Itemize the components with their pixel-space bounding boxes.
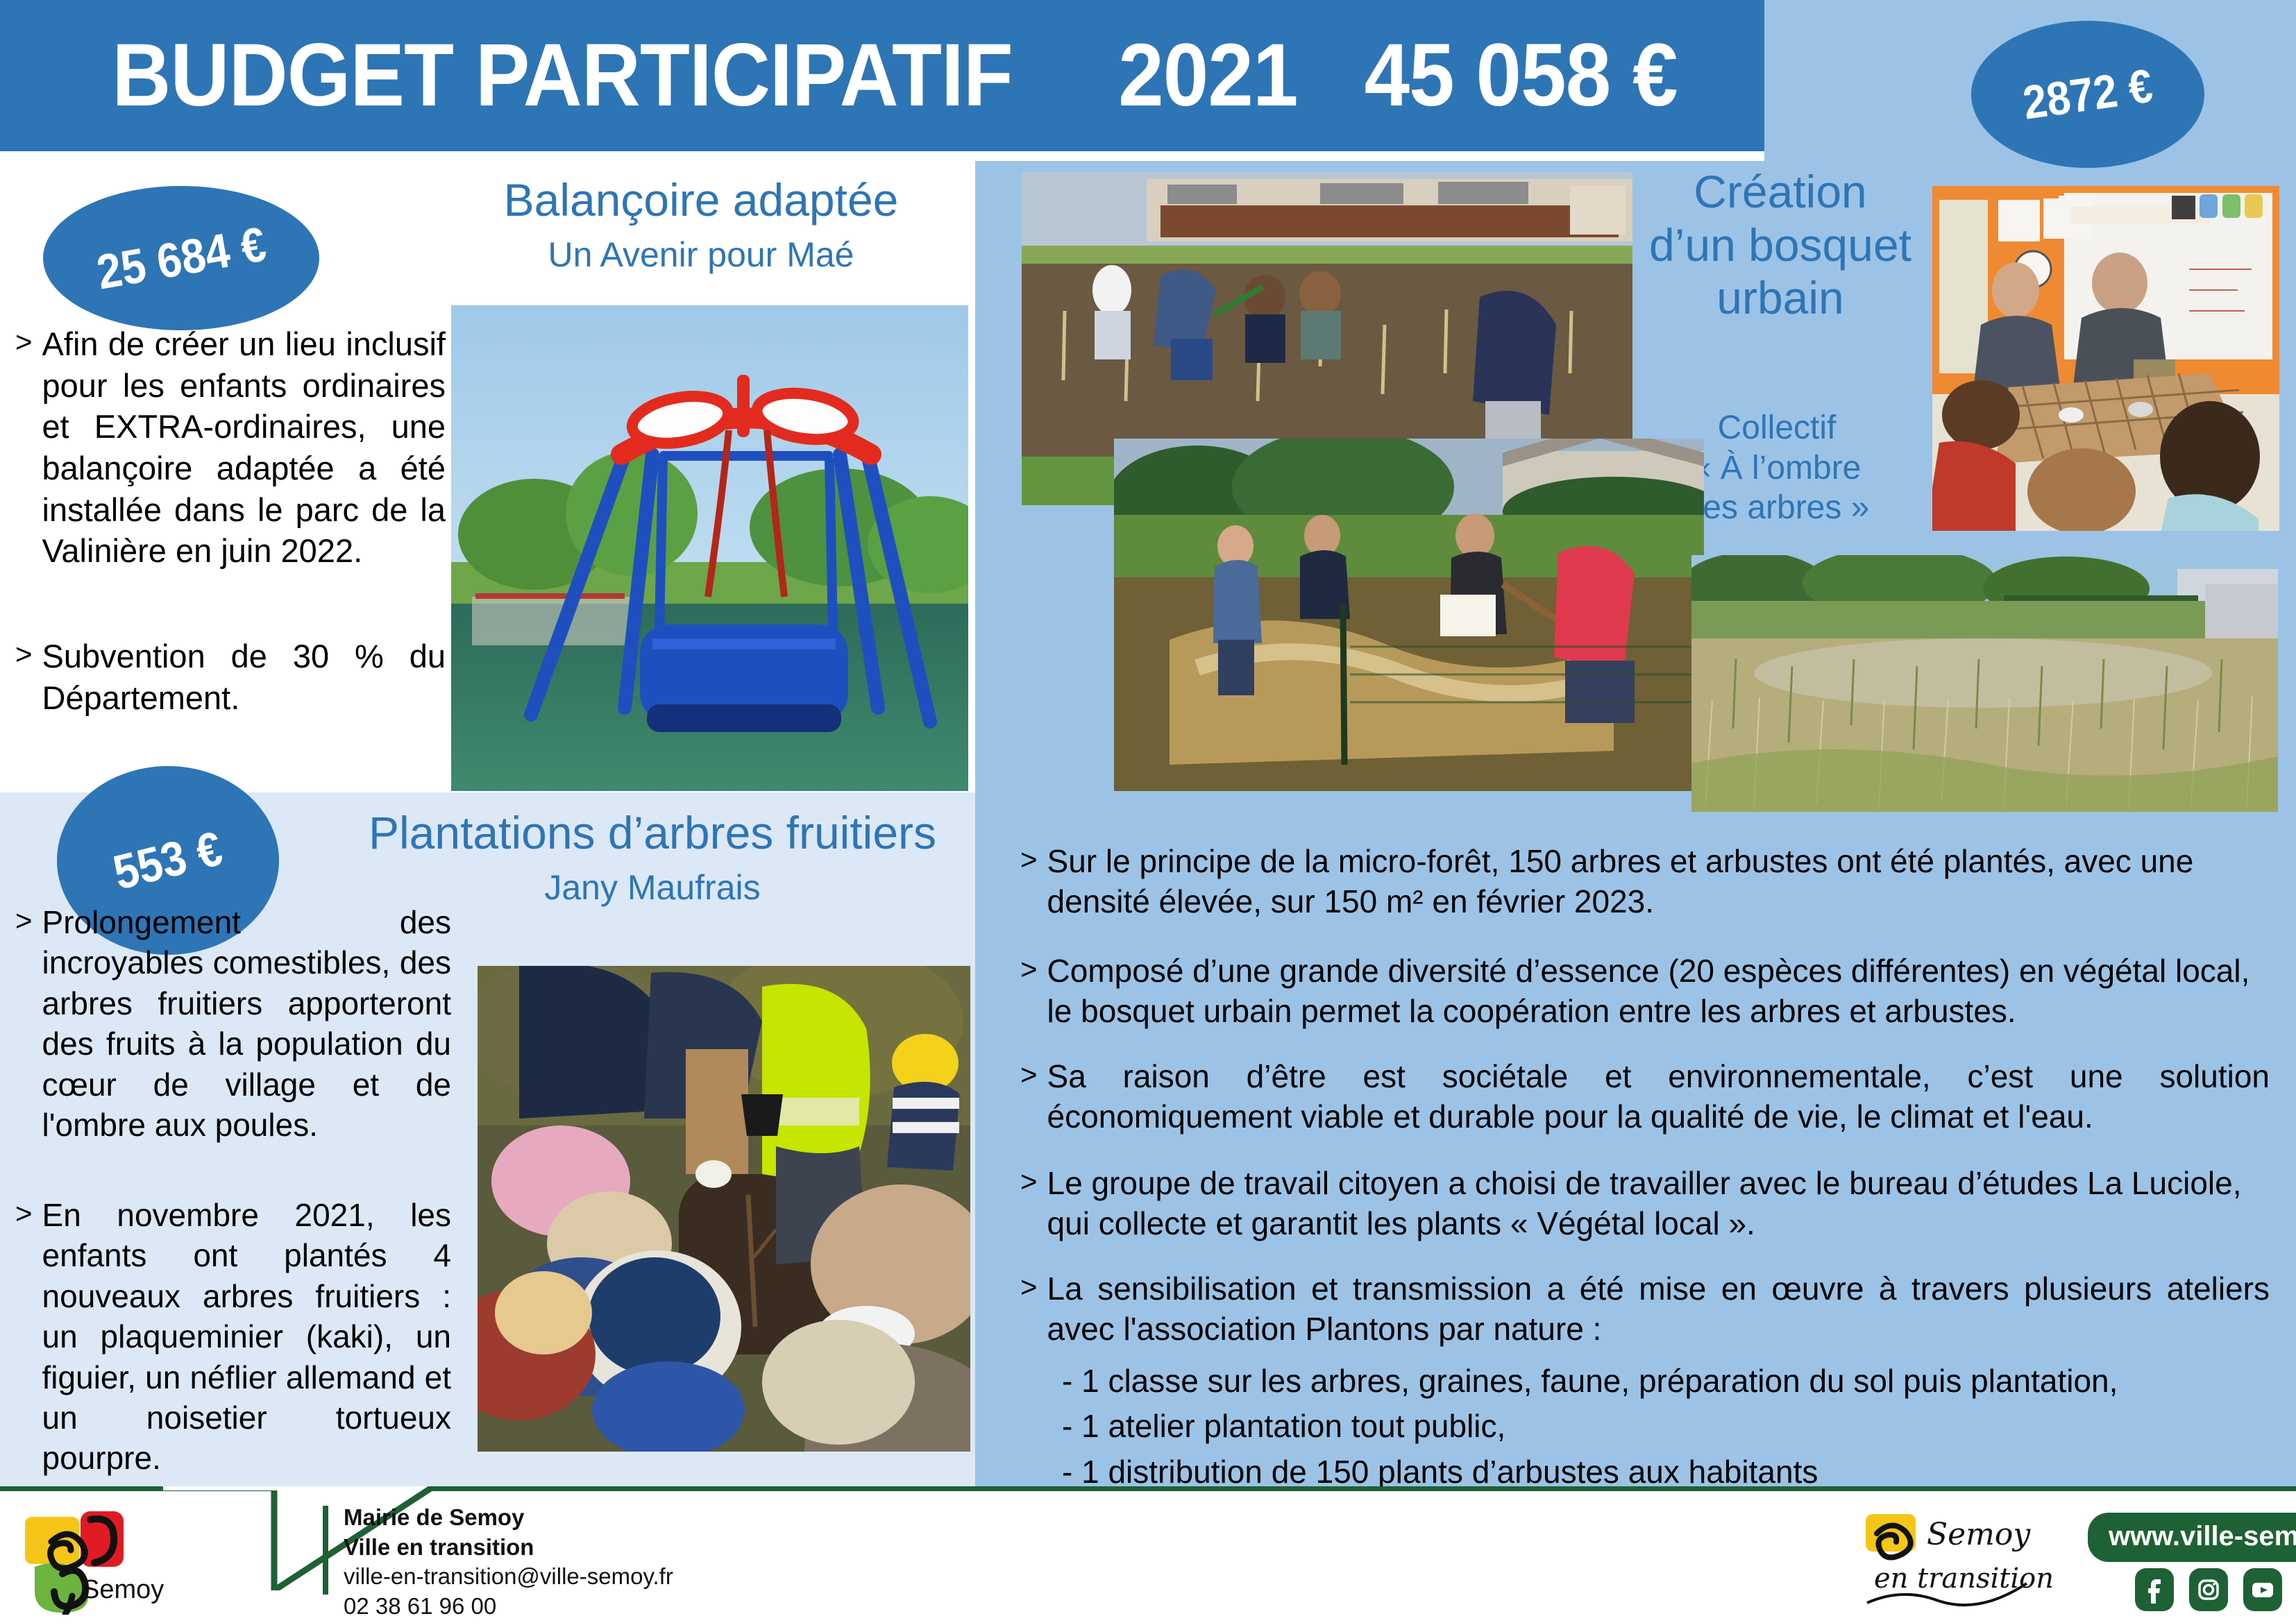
bullet-bosquet-5-text: La sensibilisation et transmission a été… bbox=[1047, 1268, 2270, 1350]
badge-amount-balancoire: 25 684 € bbox=[43, 186, 319, 330]
badge-amount-balancoire-label: 25 684 € bbox=[92, 216, 269, 300]
photo-plantation-bottes-paille-image bbox=[1114, 439, 1704, 791]
photo-balancoire-adaptee bbox=[451, 305, 968, 791]
bullet-bosquet-4: > Le groupe de travail citoyen a choisi … bbox=[1020, 1163, 2270, 1244]
header-year: 2021 bbox=[1118, 31, 1297, 120]
facebook-icon[interactable] bbox=[2135, 1568, 2174, 1611]
project-title-balancoire: Balançoire adaptée bbox=[444, 175, 958, 226]
bullet-bosquet-2-text: Composé d’une grande diversité d’essence… bbox=[1047, 951, 2270, 1032]
photo-atelier-classe bbox=[1932, 186, 2279, 531]
footer-contact-email[interactable]: ville-en-transition@ville-semoy.fr bbox=[344, 1562, 871, 1592]
list-item: - 1 classe sur les arbres, graines, faun… bbox=[1062, 1359, 2270, 1404]
project-title-bosquet: Création d’un bosquet urbain bbox=[1645, 165, 1916, 325]
chevron-right-icon: > bbox=[15, 323, 42, 572]
bullet-bosquet-3-text: Sa raison d’être est sociétale et enviro… bbox=[1047, 1056, 2270, 1137]
transition-logo-transition-text: en transition bbox=[1874, 1563, 2054, 1595]
badge-amount-plantations-label: 553 € bbox=[108, 820, 228, 901]
list-item: - 1 atelier plantation tout public, bbox=[1062, 1404, 2270, 1449]
footer-contact-phone: 02 38 61 96 00 bbox=[344, 1592, 871, 1622]
bullet-bosquet-2: > Composé d’une grande diversité d’essen… bbox=[1020, 951, 2270, 1032]
page-title: BUDGET PARTICIPATIF bbox=[112, 31, 1013, 120]
chevron-right-icon: > bbox=[1020, 841, 1047, 922]
instagram-icon[interactable] bbox=[2189, 1568, 2228, 1611]
bullet-plantations-2: > En novembre 2021, les enfants ont plan… bbox=[15, 1195, 451, 1479]
project-subtitle-balancoire: Un Avenir pour Maé bbox=[444, 235, 958, 275]
bullet-balancoire-1: > Afin de créer un lieu inclusif pour le… bbox=[15, 323, 446, 572]
transition-logo-semoy-text: Semoy bbox=[1927, 1517, 2031, 1552]
badge-amount-bosquet: 2872 € bbox=[1971, 21, 2204, 168]
bullet-balancoire-1-text: Afin de créer un lieu inclusif pour les … bbox=[42, 323, 446, 572]
photo-micro-foret bbox=[1691, 555, 2278, 812]
bullet-balancoire-2-text: Subvention de 30 % du Département. bbox=[42, 636, 446, 718]
bullet-bosquet-1: > Sur le principe de la micro-forêt, 150… bbox=[1020, 841, 2270, 922]
photo-micro-foret-image bbox=[1691, 555, 2278, 812]
photo-enfants-plantation bbox=[478, 966, 970, 1452]
photo-atelier-classe-image bbox=[1932, 186, 2279, 531]
bullet-plantations-1: > Prolongement des incroyables comestibl… bbox=[15, 902, 451, 1145]
photo-balancoire-adaptee-image bbox=[451, 305, 968, 791]
bullet-plantations-2-text: En novembre 2021, les enfants ont planté… bbox=[42, 1195, 451, 1479]
footer-contact-block: Mairie de Semoy Ville en transition vill… bbox=[344, 1503, 871, 1621]
footer-divider bbox=[323, 1506, 328, 1595]
badge-amount-bosquet-label: 2872 € bbox=[2020, 58, 2156, 130]
chevron-right-icon: > bbox=[1020, 1163, 1047, 1244]
chevron-right-icon: > bbox=[1020, 1056, 1047, 1137]
bullet-bosquet-5: > La sensibilisation et transmission a é… bbox=[1020, 1268, 2270, 1350]
chevron-right-icon: > bbox=[15, 902, 42, 1145]
footer-contact-line1: Mairie de Semoy bbox=[344, 1503, 871, 1533]
bullet-bosquet-1-text: Sur le principe de la micro-forêt, 150 a… bbox=[1047, 841, 2270, 922]
semoy-logo-label: Semoy bbox=[82, 1575, 164, 1605]
header-amount: 45 058 € bbox=[1365, 31, 1678, 120]
bosquet-sublist: - 1 classe sur les arbres, graines, faun… bbox=[1062, 1359, 2270, 1495]
footer: Semoy Mairie de Semoy Ville en transitio… bbox=[0, 1486, 2296, 1623]
photo-enfants-plantation-image bbox=[478, 966, 970, 1452]
chevron-right-icon: > bbox=[15, 1195, 42, 1479]
footer-contact-line2: Ville en transition bbox=[344, 1533, 871, 1563]
project-title-plantations: Plantations d’arbres fruitiers bbox=[333, 808, 972, 859]
header-title-row: BUDGET PARTICIPATIF 2021 45 058 € bbox=[0, 0, 1764, 151]
bullet-plantations-1-text: Prolongement des incroyables comestibles… bbox=[42, 902, 451, 1145]
bullet-bosquet-4-text: Le groupe de travail citoyen a choisi de… bbox=[1047, 1163, 2270, 1244]
bullet-bosquet-3: > Sa raison d’être est sociétale et envi… bbox=[1020, 1056, 2270, 1137]
youtube-icon[interactable] bbox=[2243, 1568, 2282, 1611]
website-button[interactable]: www.ville-semoy.fr bbox=[2088, 1513, 2296, 1562]
photo-plantation-bottes-paille bbox=[1114, 439, 1704, 791]
semoy-en-transition-logo-icon: Semoy en transition bbox=[1860, 1506, 2068, 1610]
chevron-right-icon: > bbox=[1020, 951, 1047, 1032]
bullet-balancoire-2: > Subvention de 30 % du Département. bbox=[15, 636, 446, 718]
chevron-right-icon: > bbox=[1020, 1268, 1047, 1350]
social-links bbox=[2135, 1568, 2282, 1611]
chevron-right-icon: > bbox=[15, 636, 42, 718]
